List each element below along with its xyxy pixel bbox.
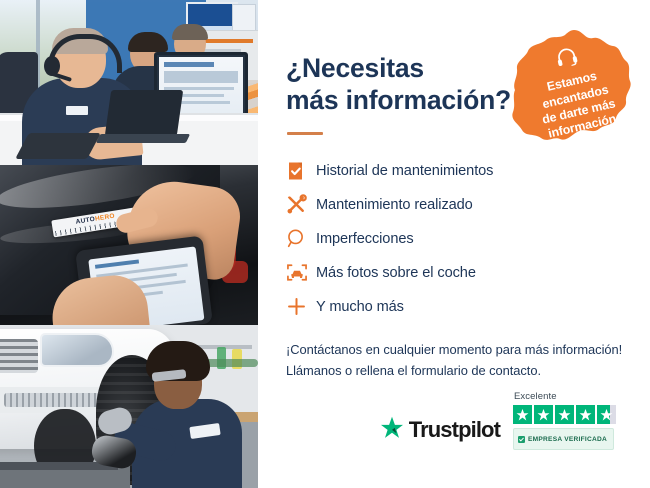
star-2	[534, 405, 553, 424]
star-3	[555, 405, 574, 424]
headset-icon	[553, 45, 581, 75]
verified-label: EMPRESA VERIFICADA	[528, 436, 607, 443]
contact-blurb: ¡Contáctanos en cualquier momento para m…	[286, 340, 650, 382]
feature-label: Más fotos sobre el coche	[316, 265, 476, 281]
star-5-partial	[597, 405, 616, 424]
blurb-line-1: ¡Contáctanos en cualquier momento para m…	[286, 340, 650, 361]
trustpilot-rating-label: Excelente	[514, 391, 557, 402]
plus-icon	[286, 295, 316, 319]
feature-item-historial: Historial de mantenimientos	[286, 154, 650, 188]
mechanic	[132, 341, 242, 488]
trustpilot-rating[interactable]: Trustpilot Excelente	[380, 391, 616, 450]
car-grille	[0, 339, 38, 373]
star-1	[513, 405, 532, 424]
headline-line-2: más información?	[286, 84, 526, 116]
car-headlight	[40, 333, 114, 367]
trustpilot-score-block: Excelente	[513, 391, 616, 450]
crossed-tools-icon	[286, 193, 316, 217]
feature-list: Historial de mantenimientos Mantenimient…	[286, 154, 650, 324]
page-title: ¿Necesitas más información?	[286, 52, 526, 117]
call-center-photo	[0, 0, 258, 165]
car-scan-icon	[286, 261, 316, 285]
photo-collage: AUTOHERO	[0, 0, 258, 488]
laptop	[98, 90, 180, 142]
workshop-photo	[0, 325, 258, 488]
information-banner: AUTOHERO	[0, 0, 650, 488]
desk-tablet	[15, 133, 101, 159]
clipboard-check-icon	[286, 159, 316, 183]
title-underline-rule	[287, 132, 323, 135]
headline-line-1: ¿Necesitas	[286, 52, 526, 84]
star-4	[576, 405, 595, 424]
star-rating[interactable]	[513, 405, 616, 424]
feature-label: Imperfecciones	[316, 231, 414, 247]
feature-item-fotos: Más fotos sobre el coche	[286, 256, 650, 290]
inspection-photo: AUTOHERO	[0, 165, 258, 325]
feature-item-mantenimiento: Mantenimiento realizado	[286, 188, 650, 222]
content-panel: ¿Necesitas más información? Historial de…	[258, 0, 650, 488]
trustpilot-logo[interactable]: Trustpilot	[380, 416, 500, 450]
trustpilot-brand-label: Trustpilot	[409, 417, 500, 443]
feature-item-imperfecciones: Imperfecciones	[286, 222, 650, 256]
feature-label: Y mucho más	[316, 299, 404, 315]
feature-item-mas: Y mucho más	[286, 290, 650, 324]
feature-label: Mantenimiento realizado	[316, 197, 473, 213]
trustpilot-star-icon	[380, 416, 404, 444]
feature-label: Historial de mantenimientos	[316, 163, 493, 179]
verified-company-badge: EMPRESA VERIFICADA	[513, 428, 614, 450]
blurb-line-2: Llámanos o rellena el formulario de cont…	[286, 361, 650, 382]
promo-badge: Estamos encantados de darte más informac…	[511, 27, 637, 155]
check-square-icon	[518, 430, 525, 448]
magnifier-icon	[286, 227, 316, 251]
